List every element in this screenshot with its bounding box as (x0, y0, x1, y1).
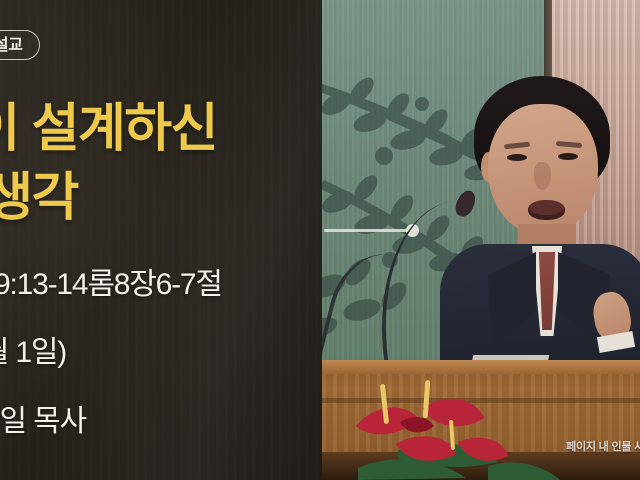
sermon-info-panel: 주일설교 님이 설계하신 과 생각 7,시139:13-14롬8장6-7절 년2… (0, 0, 322, 480)
speaker-eye-right (558, 153, 578, 160)
speaker-name: ᄉ 일 목사 (0, 396, 86, 440)
speaker-mouth (528, 200, 565, 220)
anthurium-flowers (338, 378, 568, 480)
category-badge[interactable]: 주일설교 (0, 30, 40, 60)
speaker-nose (534, 162, 551, 190)
pulpit-top-edge (322, 360, 640, 374)
sermon-photo: 페이지 내 인물 사진 (322, 0, 640, 480)
photo-watermark: 페이지 내 인물 사진 (566, 438, 640, 454)
wall-rod (324, 229, 410, 232)
sermon-title-line-2: 과 생각 (0, 164, 322, 233)
scripture-reference: 7,시139:13-14롬8장6-7절 (0, 259, 222, 303)
sermon-title-line-1: 님이 설계하신 (0, 95, 322, 164)
speaker-eye-left (507, 154, 527, 161)
video-thumbnail: 주일설교 님이 설계하신 과 생각 7,시139:13-14롬8장6-7절 년2… (0, 0, 640, 480)
sermon-title: 님이 설계하신 과 생각 (0, 95, 322, 232)
sermon-date: 년2월 1일) (0, 327, 66, 371)
